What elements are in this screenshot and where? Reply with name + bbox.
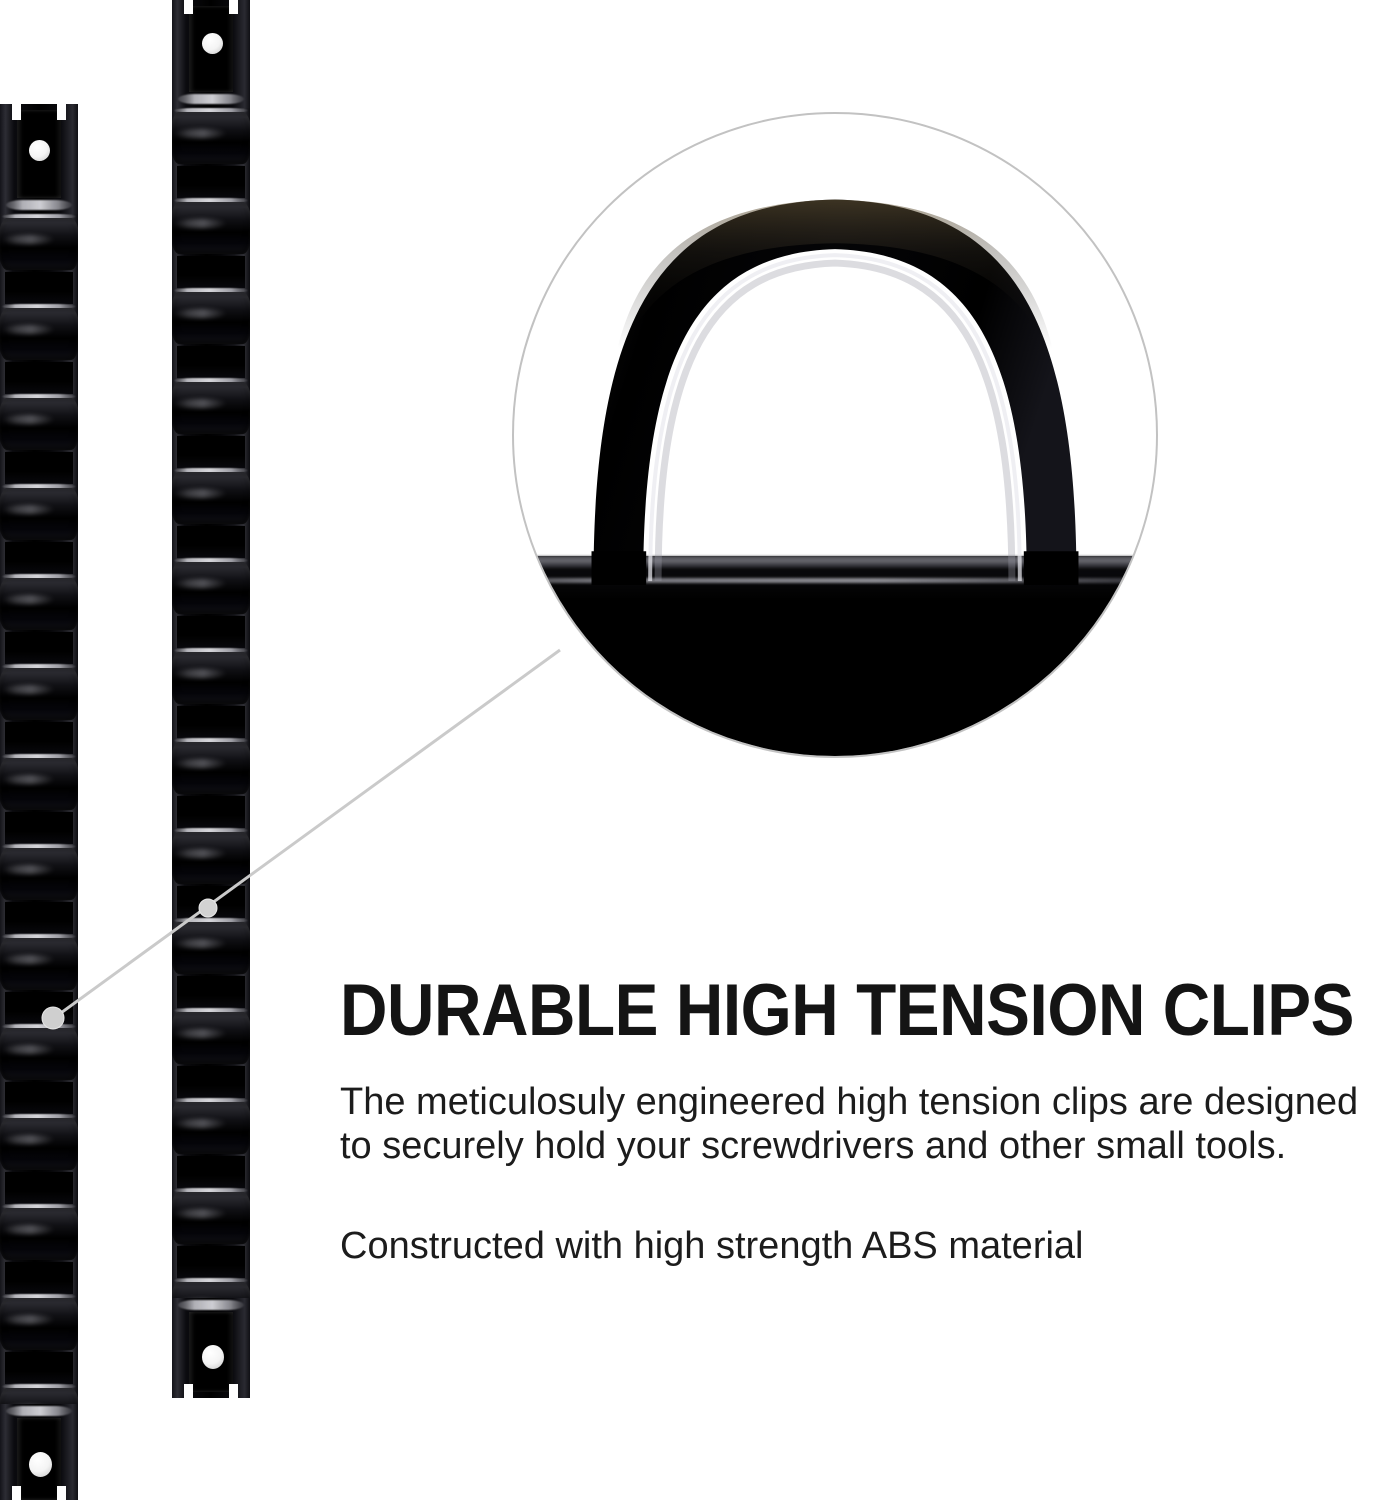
- clip-segment: [172, 378, 250, 468]
- clip-sheen: [174, 309, 228, 318]
- product-feature-banner: DURABLE HIGH TENSION CLIPS The meticulos…: [0, 0, 1392, 1500]
- clip-gap: [177, 166, 246, 198]
- clip-gap: [177, 256, 246, 288]
- clip-segment: [172, 1008, 250, 1098]
- mount-screw-hole-bottom: [202, 1345, 224, 1369]
- clip-sheen: [2, 685, 56, 694]
- clip-sheen: [2, 865, 56, 874]
- cap-notch-right: [57, 104, 66, 120]
- clip-barrel: [172, 472, 250, 524]
- clip-gap: [5, 362, 74, 394]
- cap-notch-right: [229, 0, 238, 14]
- rail-back-right: [172, 0, 250, 1398]
- clip-sheen: [2, 1045, 56, 1054]
- cap-shoulder-highlight: [178, 94, 244, 104]
- clip-segment: [172, 288, 250, 378]
- clip-barrel: [172, 562, 250, 614]
- feature-paragraph-1: The meticulosuly engineered high tension…: [340, 1080, 1380, 1168]
- mount-screw-hole-top: [202, 33, 223, 54]
- clip-segment: [172, 738, 250, 828]
- high-tension-clip-arch: [514, 114, 1156, 756]
- clip-segment: [172, 828, 250, 918]
- clip-sheen: [174, 939, 228, 948]
- cap-notch-right: [229, 1384, 238, 1398]
- clip-segment: [0, 664, 78, 754]
- clip-detail-magnifier: [512, 112, 1158, 758]
- clip-segment: [0, 484, 78, 574]
- clip-barrel: [0, 308, 78, 360]
- clip-sheen: [2, 955, 56, 964]
- clip-barrel: [0, 488, 78, 540]
- clip-barrel: [0, 1298, 78, 1350]
- paragraph-spacer: [340, 1168, 1380, 1224]
- clip-barrel: [172, 382, 250, 434]
- clip-segment: [0, 1204, 78, 1294]
- clip-sheen: [2, 1135, 56, 1144]
- clip-barrel: [172, 1192, 250, 1244]
- clip-sheen: [174, 1029, 228, 1038]
- clip-sheen: [174, 489, 228, 498]
- clip-sheen: [174, 849, 228, 858]
- clip-barrel: [0, 398, 78, 450]
- clip-gap: [177, 976, 246, 1008]
- clip-segment: [172, 108, 250, 198]
- clip-leg-foot-left: [592, 551, 647, 585]
- clip-barrel: [172, 1012, 250, 1064]
- clip-strip: [0, 214, 78, 1404]
- clip-gap: [5, 1352, 74, 1384]
- clip-segment: [0, 1024, 78, 1114]
- cap-shoulder-highlight: [6, 200, 72, 210]
- clip-segment: [0, 754, 78, 844]
- clip-gap: [177, 706, 246, 738]
- clip-barrel: [172, 1102, 250, 1154]
- clip-barrel: [0, 668, 78, 720]
- clip-barrel: [0, 578, 78, 630]
- clip-sheen: [174, 579, 228, 588]
- clip-gap: [177, 1066, 246, 1098]
- cap-notch-left: [12, 1486, 21, 1500]
- clip-gap: [5, 1172, 74, 1204]
- clip-gap: [5, 542, 74, 574]
- clip-barrel: [0, 1028, 78, 1080]
- clip-sheen: [2, 1315, 56, 1324]
- clip-segment: [172, 558, 250, 648]
- clip-sheen: [2, 595, 56, 604]
- clip-barrel: [0, 758, 78, 810]
- clip-sheen: [2, 505, 56, 514]
- clip-strip: [172, 108, 250, 1298]
- clip-segment: [0, 1114, 78, 1204]
- clip-gap: [5, 722, 74, 754]
- page-title: DURABLE HIGH TENSION CLIPS: [340, 972, 1276, 1050]
- clip-gap: [5, 1262, 74, 1294]
- clip-barrel: [172, 202, 250, 254]
- clip-gap: [177, 1246, 246, 1278]
- clip-segment: [172, 198, 250, 288]
- clip-gap: [5, 1082, 74, 1114]
- clip-segment: [0, 574, 78, 664]
- clip-barrel: [0, 218, 78, 270]
- clip-sheen: [174, 399, 228, 408]
- clip-barrel: [0, 1208, 78, 1260]
- feature-paragraph-2: Constructed with high strength ABS mater…: [340, 1224, 1380, 1268]
- clip-sheen: [174, 1209, 228, 1218]
- clip-gap: [5, 992, 74, 1024]
- cap-notch-left: [12, 104, 21, 120]
- clip-segment: [172, 1098, 250, 1188]
- clip-leg-foot-right: [1024, 551, 1079, 585]
- cap-notch-left: [184, 1384, 193, 1398]
- clip-gap: [5, 272, 74, 304]
- clip-sheen: [2, 775, 56, 784]
- clip-gap: [177, 886, 246, 918]
- mount-screw-hole-top: [29, 140, 50, 161]
- clip-gap: [5, 452, 74, 484]
- clip-sheen: [2, 415, 56, 424]
- clip-sheen: [174, 759, 228, 768]
- clip-sheen: [174, 129, 228, 138]
- rail-bottom-mount-cap: [172, 1298, 250, 1398]
- rail-front-left: [0, 104, 78, 1500]
- clip-sheen: [2, 325, 56, 334]
- clip-sheen: [2, 235, 56, 244]
- clip-gap: [177, 1156, 246, 1188]
- clip-barrel: [0, 848, 78, 900]
- clip-sheen: [174, 669, 228, 678]
- clip-segment: [172, 648, 250, 738]
- clip-sheen: [174, 1119, 228, 1128]
- clip-segment: [0, 1294, 78, 1384]
- cap-notch-left: [184, 0, 193, 14]
- clip-gap: [177, 436, 246, 468]
- clip-segment: [172, 468, 250, 558]
- clip-barrel: [172, 742, 250, 794]
- clip-barrel: [172, 922, 250, 974]
- clip-gap: [177, 526, 246, 558]
- leader-line: [54, 650, 560, 1018]
- rail-top-mount-cap: [0, 104, 78, 214]
- clip-barrel: [172, 292, 250, 344]
- cap-shoulder-highlight: [6, 1406, 72, 1416]
- clip-segment: [0, 394, 78, 484]
- feature-text-block: DURABLE HIGH TENSION CLIPS The meticulos…: [340, 972, 1380, 1268]
- clip-segment: [0, 934, 78, 1024]
- clip-gap: [5, 632, 74, 664]
- cap-notch-right: [57, 1486, 66, 1500]
- clip-segment: [0, 304, 78, 394]
- clip-sheen: [2, 1225, 56, 1234]
- clip-gap: [177, 346, 246, 378]
- rail-top-mount-cap: [172, 0, 250, 108]
- clip-gap: [177, 796, 246, 828]
- cap-shoulder-highlight: [178, 1300, 244, 1310]
- clip-barrel: [172, 652, 250, 704]
- clip-sheen: [174, 219, 228, 228]
- mount-screw-hole-bottom: [29, 1452, 52, 1477]
- clip-segment: [172, 1188, 250, 1278]
- clip-barrel: [172, 832, 250, 884]
- rail-bottom-mount-cap: [0, 1404, 78, 1500]
- clip-gap: [177, 616, 246, 648]
- clip-gap: [5, 812, 74, 844]
- clip-barrel: [0, 1118, 78, 1170]
- clip-segment: [0, 214, 78, 304]
- clip-segment: [0, 844, 78, 934]
- clip-gap: [5, 902, 74, 934]
- clip-segment: [172, 918, 250, 1008]
- clip-barrel: [172, 112, 250, 164]
- clip-barrel: [0, 938, 78, 990]
